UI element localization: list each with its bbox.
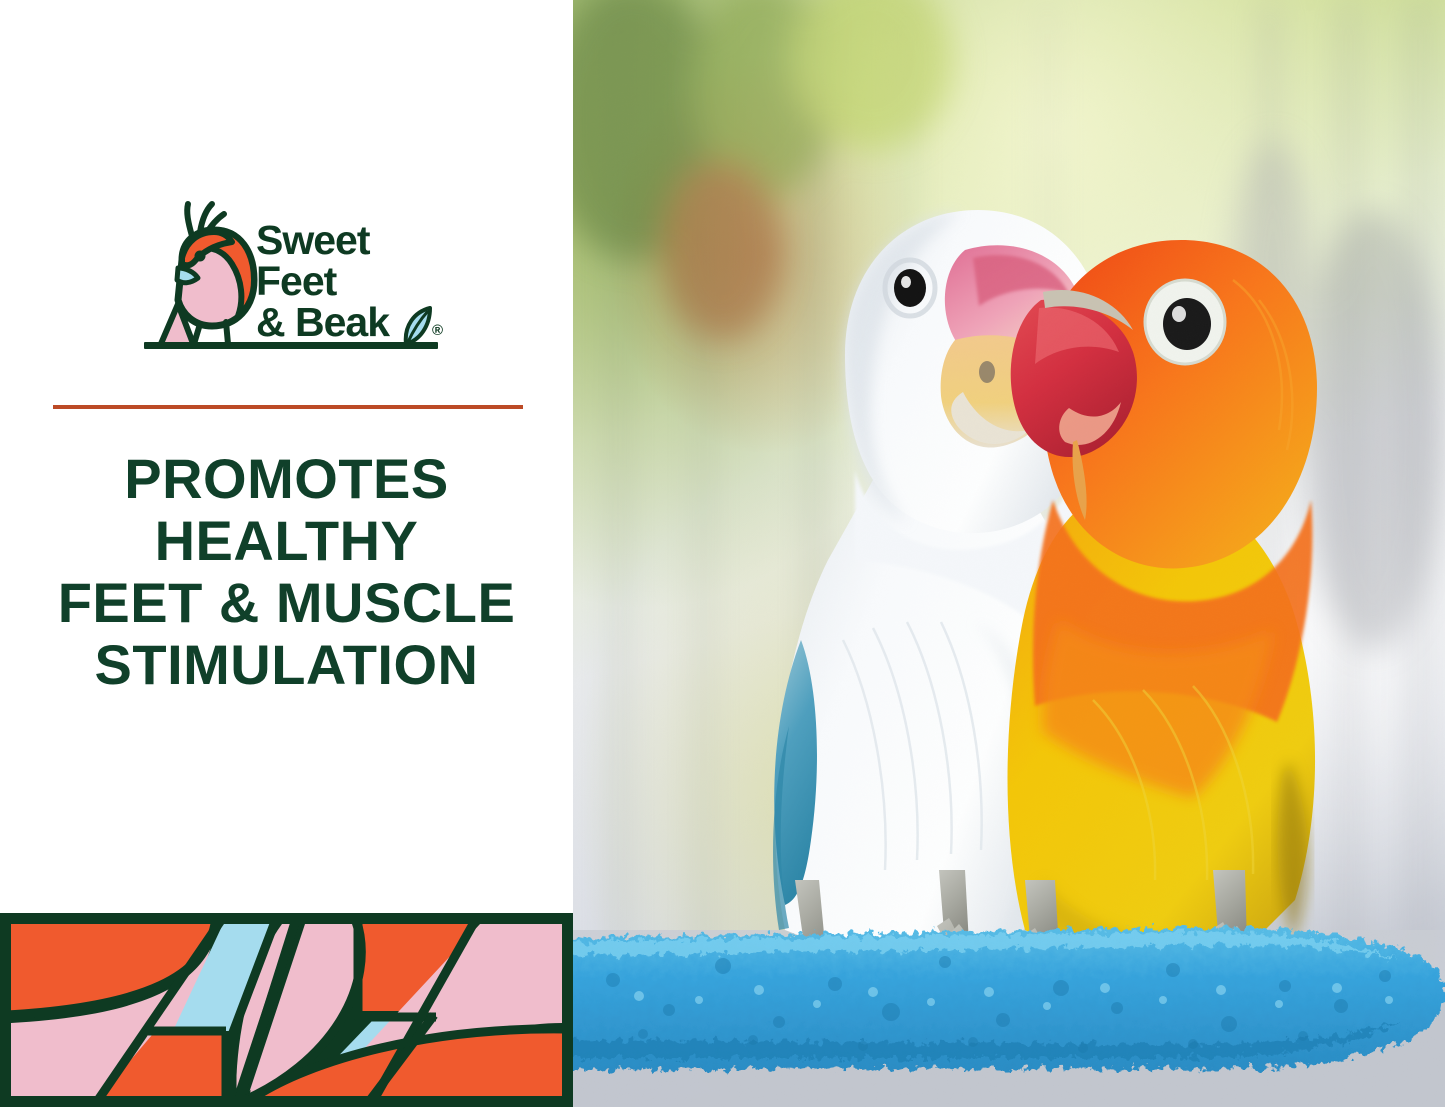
orange-divider-line — [53, 405, 523, 409]
headline-line-4: STIMULATION — [20, 634, 553, 696]
stained-glass-graphic — [0, 913, 573, 1107]
headline-text: PROMOTES HEALTHY FEET & MUSCLE STIMULATI… — [20, 448, 553, 696]
leaf-icon — [400, 304, 436, 346]
logo-line-2: Feet — [256, 261, 451, 302]
logo-line-1: Sweet — [256, 220, 451, 261]
product-photo — [573, 0, 1445, 1107]
headline-line-3: FEET & MUSCLE — [20, 572, 553, 634]
headline-line-2: HEALTHY — [20, 510, 553, 572]
lovebirds-on-perch-photo — [573, 0, 1445, 1107]
registered-trademark-symbol: ® — [432, 322, 443, 339]
product-feature-image: Sweet Feet & Beak ® PROMOTES HEALTHY FEE… — [0, 0, 1445, 1107]
headline-line-1: PROMOTES — [20, 448, 553, 510]
logo-baseline-rule — [144, 342, 438, 349]
brand-logo: Sweet Feet & Beak ® — [148, 196, 448, 361]
left-info-panel: Sweet Feet & Beak ® PROMOTES HEALTHY FEE… — [0, 0, 573, 1107]
decorative-pattern-band — [0, 913, 573, 1107]
parrot-icon — [148, 196, 268, 356]
